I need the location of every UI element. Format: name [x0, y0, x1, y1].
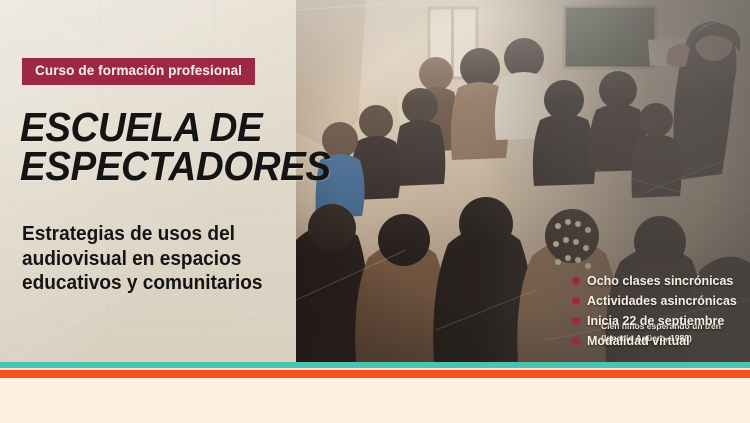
footer-bar: .UBASOCIALES Facultad de Ciencias Social…	[0, 378, 750, 423]
course-features-list: Ocho clases sincrónicas Actividades asin…	[572, 272, 750, 352]
page-title: ESCUELA DE ESPECTADORES	[20, 108, 302, 187]
page-subtitle: Estrategias de usos del audiovisual en e…	[22, 222, 292, 296]
list-item-label: Modalidad virtual	[587, 334, 690, 347]
list-item-label: Actividades asincrónicas	[587, 294, 737, 307]
subtitle-line-1: Estrategias de usos del	[22, 222, 292, 247]
course-poster: Cien niños esperando un tren (Ignacio Ag…	[0, 0, 750, 423]
bullet-dot-icon	[572, 277, 580, 285]
list-item: Actividades asincrónicas	[572, 292, 750, 309]
list-item: Modalidad virtual	[572, 332, 750, 349]
list-item: Ocho clases sincrónicas	[572, 272, 750, 289]
title-line-1: ESCUELA DE	[20, 108, 302, 147]
divider-band-orange	[0, 370, 750, 378]
title-line-2: ESPECTADORES	[20, 147, 302, 186]
list-item: Inicia 22 de septiembre	[572, 312, 750, 329]
list-item-label: Ocho clases sincrónicas	[587, 274, 733, 287]
course-type-badge: Curso de formación profesional	[22, 58, 255, 85]
bullet-dot-icon	[572, 317, 580, 325]
subtitle-line-3: educativos y comunitarios	[22, 271, 292, 296]
subtitle-line-2: audiovisual en espacios	[22, 247, 292, 272]
bullet-dot-icon	[572, 337, 580, 345]
list-item-label: Inicia 22 de septiembre	[587, 314, 724, 327]
bullet-dot-icon	[572, 297, 580, 305]
